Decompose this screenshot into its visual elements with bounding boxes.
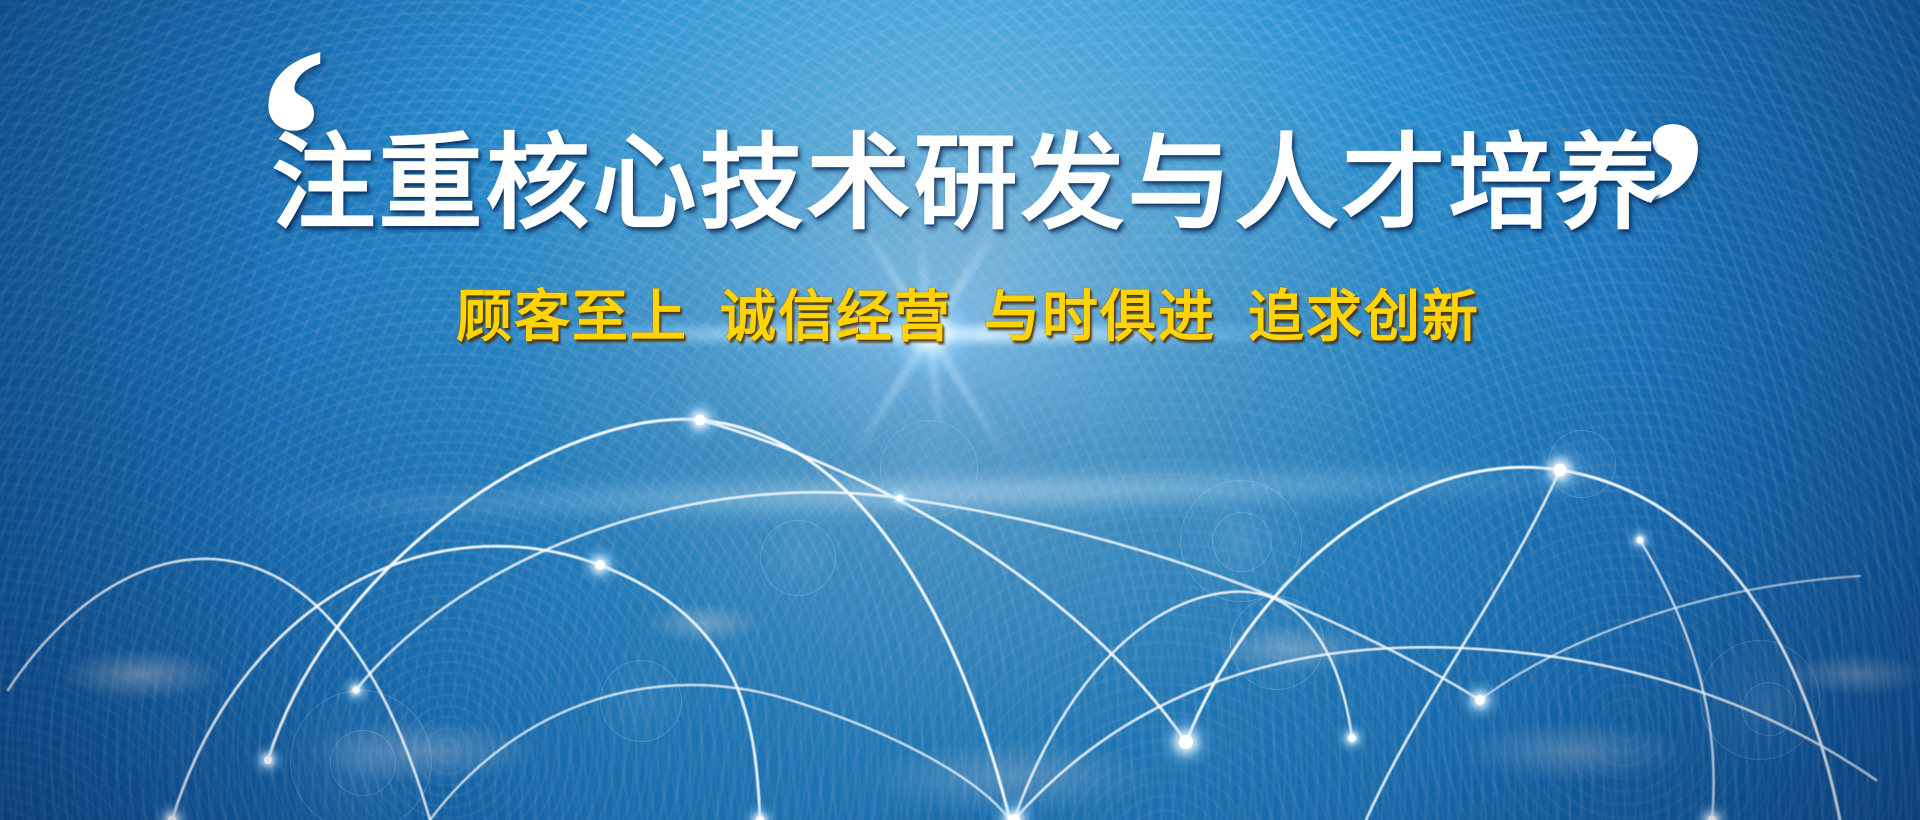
banner-headline: 注重核心技术研发与人才培养 <box>0 130 1920 238</box>
hero-banner: ‘ ’ 注重核心技术研发与人才培养 顾客至上 诚信经营 与时俱进 追求创新 <box>0 0 1920 820</box>
banner-subline: 顾客至上 诚信经营 与时俱进 追求创新 <box>0 288 1920 348</box>
banner-text-layer: ‘ ’ 注重核心技术研发与人才培养 顾客至上 诚信经营 与时俱进 追求创新 <box>0 0 1920 820</box>
